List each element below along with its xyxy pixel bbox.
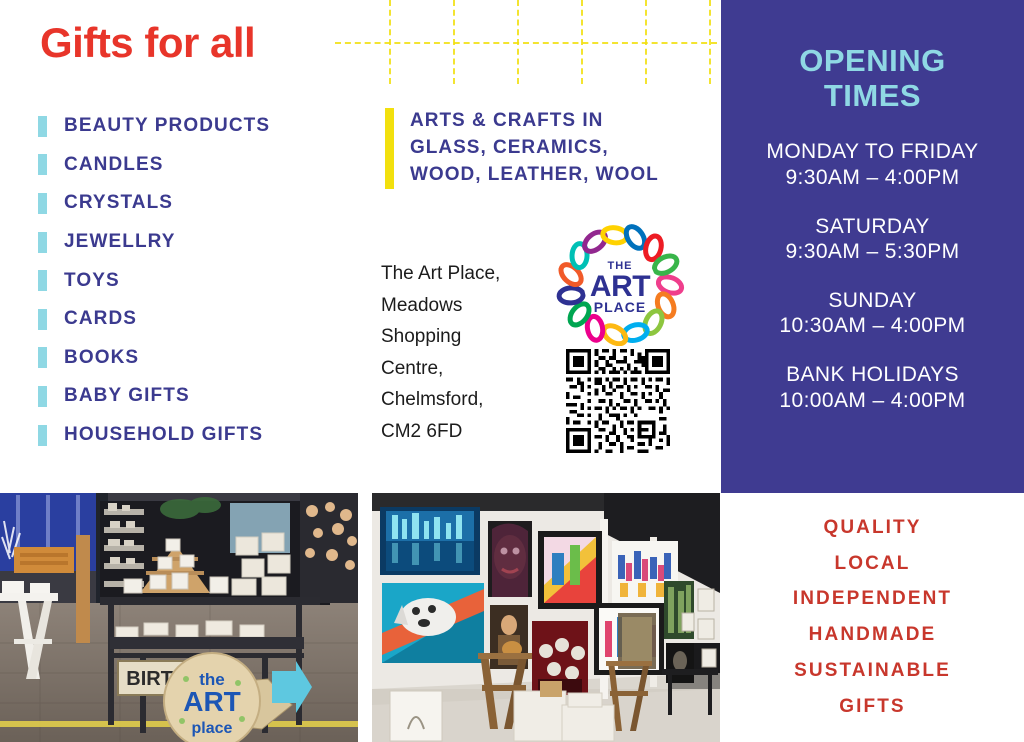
opening-times-day: SATURDAY xyxy=(735,214,1010,240)
category-label: CARDS xyxy=(64,308,137,330)
opening-times-day: SUNDAY xyxy=(735,288,1010,314)
dashed-grid-decoration xyxy=(335,0,717,84)
list-item: BEAUTY PRODUCTS xyxy=(38,107,358,146)
category-label: BABY GIFTS xyxy=(64,385,190,407)
opening-times-entry: BANK HOLIDAYS 10:00AM – 4:00PM xyxy=(735,362,1010,413)
tagline-line: SUSTAINABLE xyxy=(721,653,1024,689)
bullet-marker-icon xyxy=(38,154,47,175)
bullet-marker-icon xyxy=(38,270,47,291)
bullet-marker-icon xyxy=(38,309,47,330)
opening-times-hours: 10:30AM – 4:00PM xyxy=(735,313,1010,339)
category-label: BOOKS xyxy=(64,347,139,369)
grid-vertical-line xyxy=(453,0,455,84)
tagline-line: QUALITY xyxy=(721,510,1024,546)
flyer-canvas: Gifts for all BEAUTY PRODUCTS CANDLES CR… xyxy=(0,0,1024,742)
qr-code-svg xyxy=(566,349,670,453)
painting-dog-abstract xyxy=(382,583,484,663)
basket xyxy=(540,681,562,697)
opening-times-hours: 9:30AM – 4:00PM xyxy=(735,165,1010,191)
opening-times-day: BANK HOLIDAYS xyxy=(735,362,1010,388)
painting-cityscape xyxy=(380,507,480,575)
tagline-line: HANDMADE xyxy=(721,617,1024,653)
display-plinths xyxy=(514,691,614,741)
grid-vertical-line xyxy=(645,0,647,84)
opening-times-title: OPENING TIMES xyxy=(735,44,1010,113)
tagline-line: GIFTS xyxy=(721,689,1024,725)
gift-category-list: BEAUTY PRODUCTS CANDLES CRYSTALS JEWELLR… xyxy=(38,107,358,454)
tagline-line: INDEPENDENT xyxy=(721,581,1024,617)
list-item: CRYSTALS xyxy=(38,184,358,223)
category-label: TOYS xyxy=(64,270,120,292)
opening-times-hours: 10:00AM – 4:00PM xyxy=(735,388,1010,414)
category-label: BEAUTY PRODUCTS xyxy=(64,115,270,137)
yellow-accent-bar-icon xyxy=(385,108,394,189)
bullet-marker-icon xyxy=(38,386,47,407)
grid-vertical-line xyxy=(389,0,391,84)
address-line: Centre, xyxy=(381,353,546,385)
list-item: BOOKS xyxy=(38,339,358,378)
crafts-statement-text: ARTS & CRAFTS IN GLASS, CERAMICS, WOOD, … xyxy=(410,108,665,189)
photo-gallery-wall xyxy=(372,493,720,742)
logo-svg: THE ART PLACE xyxy=(553,224,687,346)
crafts-statement: ARTS & CRAFTS IN GLASS, CERAMICS, WOOD, … xyxy=(385,108,665,189)
opening-times-entry: MONDAY TO FRIDAY 9:30AM – 4:00PM xyxy=(735,139,1010,190)
opening-times-day: MONDAY TO FRIDAY xyxy=(735,139,1010,165)
grid-vertical-line xyxy=(517,0,519,84)
bullet-marker-icon xyxy=(38,116,47,137)
photo-gallery-wall-svg xyxy=(372,493,720,742)
opening-times-title-line1: OPENING xyxy=(735,44,1010,79)
grid-vertical-line xyxy=(581,0,583,84)
opening-times-entry: SUNDAY 10:30AM – 4:00PM xyxy=(735,288,1010,339)
category-label: JEWELLRY xyxy=(64,231,176,253)
svg-text:place: place xyxy=(192,720,233,737)
the-art-place-logo: THE ART PLACE xyxy=(553,224,687,346)
category-label: CANDLES xyxy=(64,154,164,176)
address-line: CM2 6FD xyxy=(381,416,546,448)
svg-text:ART: ART xyxy=(183,686,241,717)
bullet-marker-icon xyxy=(38,232,47,253)
bullet-marker-icon xyxy=(38,347,47,368)
page-title: Gifts for all xyxy=(40,22,255,64)
address-line: Shopping xyxy=(381,321,546,353)
framed-print-on-floor xyxy=(390,691,442,741)
list-item: HOUSEHOLD GIFTS xyxy=(38,416,358,455)
tagline-line: LOCAL xyxy=(721,546,1024,582)
address-line: Chelmsford, xyxy=(381,384,546,416)
list-item: BABY GIFTS xyxy=(38,377,358,416)
address-block: The Art Place, Meadows Shopping Centre, … xyxy=(381,258,546,447)
address-line: Meadows xyxy=(381,290,546,322)
category-label: CRYSTALS xyxy=(64,192,173,214)
opening-times-hours: 9:30AM – 5:30PM xyxy=(735,239,1010,265)
qr-code[interactable] xyxy=(566,349,670,453)
list-item: CANDLES xyxy=(38,146,358,185)
painting-colour-abstract-framed xyxy=(538,531,602,609)
logo-line-place: PLACE xyxy=(594,299,646,315)
grid-vertical-line xyxy=(709,0,711,84)
opening-times-entry: SATURDAY 9:30AM – 5:30PM xyxy=(735,214,1010,265)
the-art-place-round-sign: the ART place xyxy=(164,653,260,742)
bullet-marker-icon xyxy=(38,425,47,446)
category-label: HOUSEHOLD GIFTS xyxy=(64,424,263,446)
bullet-marker-icon xyxy=(38,193,47,214)
opening-times-title-line2: TIMES xyxy=(735,79,1010,114)
painting-landscape-green xyxy=(618,613,656,669)
tagline-list: QUALITY LOCAL INDEPENDENT HANDMADE SUSTA… xyxy=(721,510,1024,724)
photo-shop-interior: BIRTHDAY CARDS the ART place xyxy=(0,493,358,742)
photo-shop-interior-svg: BIRTHDAY CARDS the ART place xyxy=(0,493,358,742)
address-line: The Art Place, xyxy=(381,258,546,290)
list-item: CARDS xyxy=(38,300,358,339)
grid-horizontal-line xyxy=(335,42,717,44)
opening-times-panel: OPENING TIMES MONDAY TO FRIDAY 9:30AM – … xyxy=(721,0,1024,493)
painting-portrait xyxy=(488,521,532,597)
list-item: JEWELLRY xyxy=(38,223,358,262)
list-item: TOYS xyxy=(38,261,358,300)
